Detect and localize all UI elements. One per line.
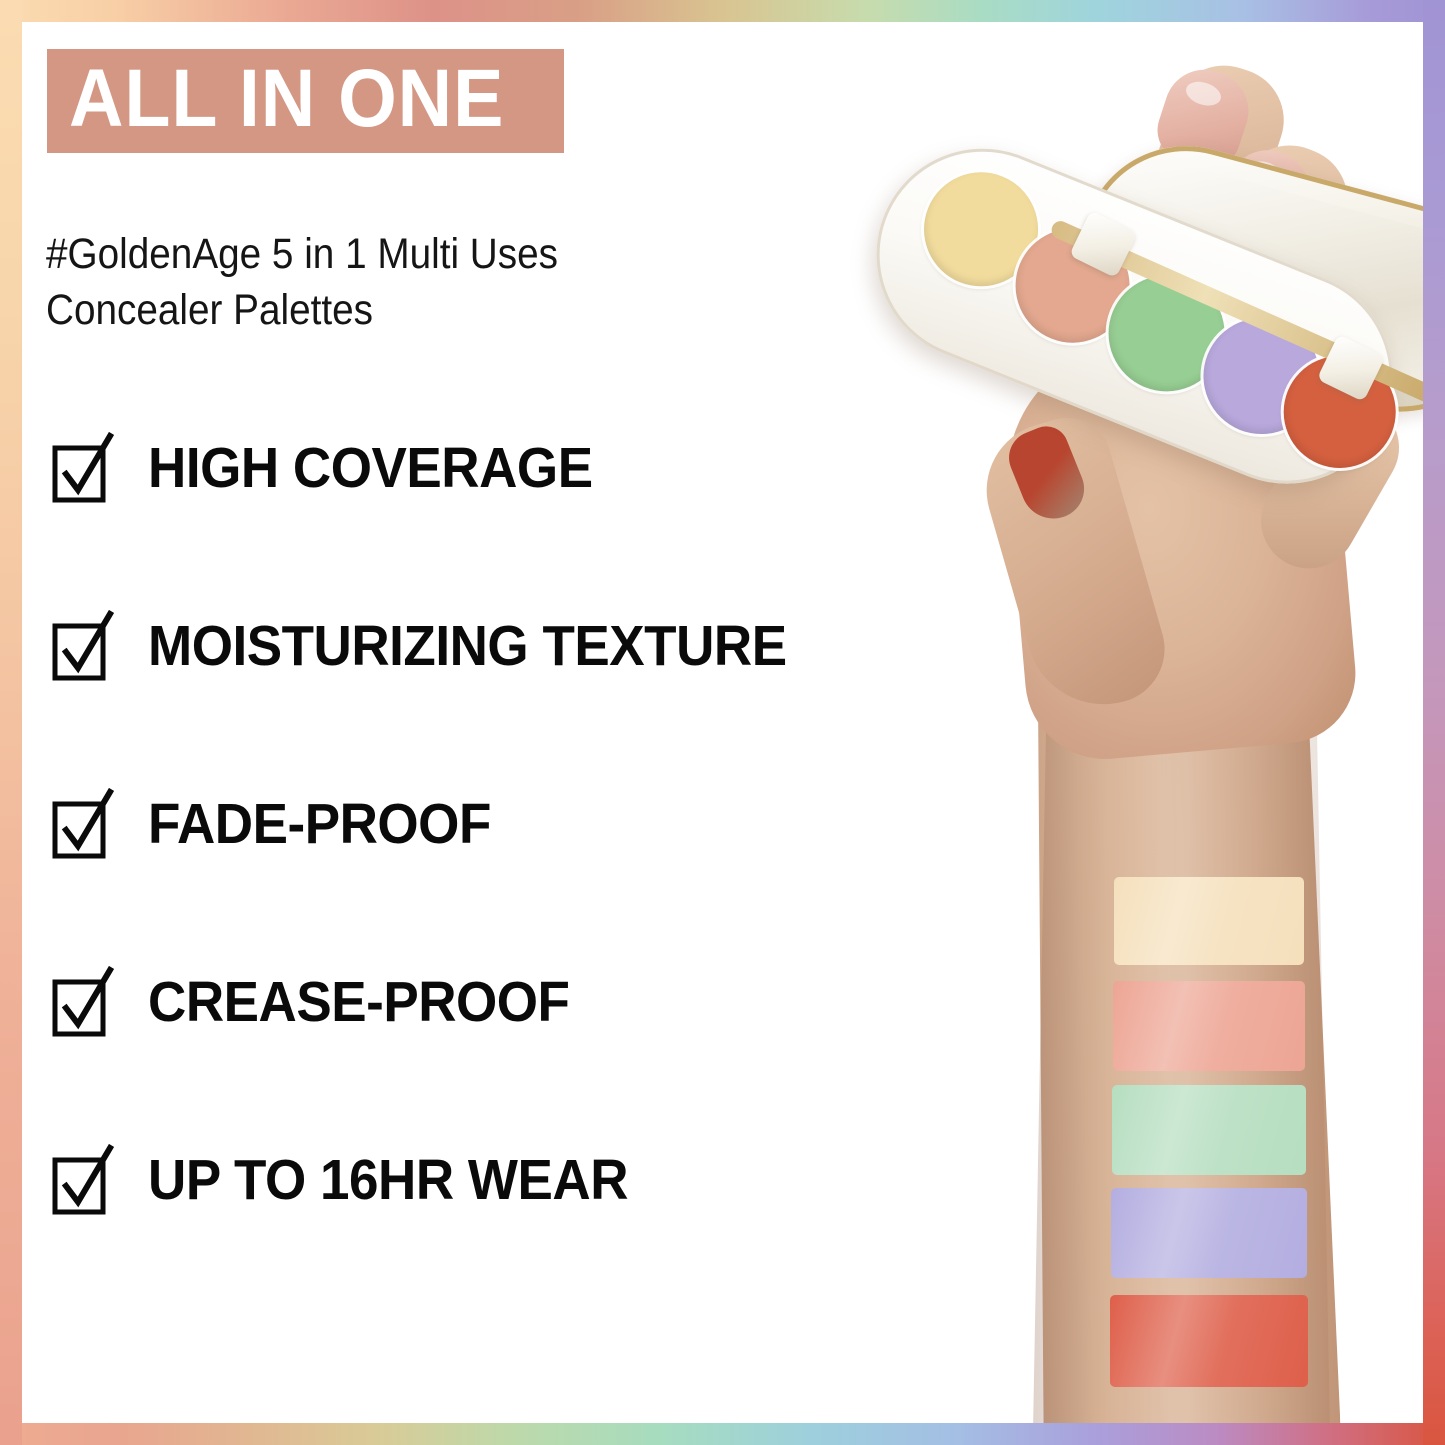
yellow-swatch <box>1114 877 1304 965</box>
swatch-sheen <box>1111 1188 1307 1278</box>
swatch-sheen <box>1113 981 1305 1071</box>
swatch-sheen <box>1110 1295 1308 1387</box>
orange-red-swatch <box>1110 1295 1308 1387</box>
feature-label: FADE-PROOF <box>148 796 491 853</box>
feature-label: HIGH COVERAGE <box>148 440 593 497</box>
headline-text: ALL IN ONE <box>69 59 504 139</box>
frame-left-gradient <box>0 0 22 1445</box>
frame-bottom-gradient <box>0 1423 1445 1445</box>
list-item: UP TO 16HR WEAR <box>52 1134 872 1226</box>
checkbox-checked-icon <box>52 610 114 682</box>
checkbox-checked-icon <box>52 966 114 1038</box>
feature-list: HIGH COVERAGE MOISTURIZING TEXTURE <box>52 422 872 1226</box>
headline-banner: ALL IN ONE <box>47 49 564 153</box>
list-item: CREASE-PROOF <box>52 956 872 1048</box>
list-item: MOISTURIZING TEXTURE <box>52 600 872 692</box>
feature-label: CREASE-PROOF <box>148 974 569 1031</box>
nail-gloss <box>1183 78 1224 110</box>
list-item: HIGH COVERAGE <box>52 422 872 514</box>
product-subtitle: #GoldenAge 5 in 1 Multi Uses Concealer P… <box>46 227 730 339</box>
checkbox-checked-icon <box>52 1144 114 1216</box>
frame-right-gradient <box>1423 0 1445 1445</box>
product-photo <box>762 22 1423 1423</box>
feature-label: UP TO 16HR WEAR <box>148 1152 628 1209</box>
lavender-swatch <box>1111 1188 1307 1278</box>
concealer-palette <box>762 77 1423 788</box>
checkbox-checked-icon <box>52 432 114 504</box>
swatch-sheen <box>1112 1085 1306 1175</box>
swatch-sheen <box>1114 877 1304 965</box>
list-item: FADE-PROOF <box>52 778 872 870</box>
peach-swatch <box>1113 981 1305 1071</box>
feature-label: MOISTURIZING TEXTURE <box>148 618 787 675</box>
checkbox-checked-icon <box>52 788 114 860</box>
green-swatch <box>1112 1085 1306 1175</box>
content-canvas: ALL IN ONE #GoldenAge 5 in 1 Multi Uses … <box>22 22 1423 1423</box>
product-infographic: ALL IN ONE #GoldenAge 5 in 1 Multi Uses … <box>0 0 1445 1445</box>
frame-top-gradient <box>0 0 1445 22</box>
